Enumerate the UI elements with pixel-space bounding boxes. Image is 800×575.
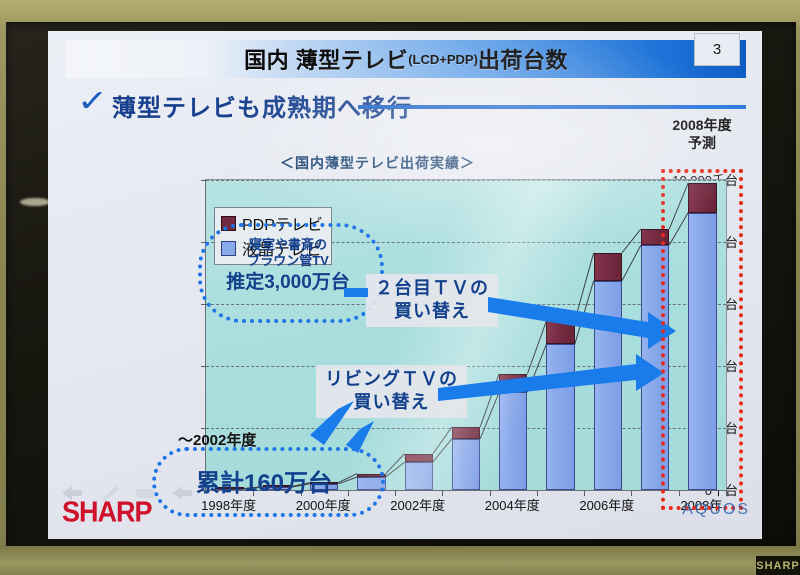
bar-segment-pdp [594, 253, 622, 281]
bar-segment-pdp [405, 454, 433, 462]
slide-title-bar: 国内 薄型テレビ (LCD+PDP) 出荷台数 [66, 40, 746, 78]
forecast-note-line1: 2008年度 [650, 117, 754, 135]
subtitle-rule [358, 105, 746, 109]
checkmark-icon: ✓ [77, 87, 108, 117]
bar-segment-pdp [499, 374, 527, 393]
sharp-logo: SHARP [62, 496, 152, 529]
callout-living-tv-line1: リビングＴＶの [325, 368, 458, 391]
page-title: 国内 薄型テレビ (LCD+PDP) 出荷台数 [66, 40, 746, 78]
photographed-slide-scene: 国内 薄型テレビ (LCD+PDP) 出荷台数 3 ✓ 薄型テレビも成熟期へ移行… [0, 0, 800, 575]
forecast-note-line2: 予測 [650, 135, 754, 153]
bar-segment-lcd [452, 439, 480, 490]
chart-caption: ＜国内薄型テレビ出荷実績＞ [280, 153, 475, 173]
corner-brand-badge: SHARP [756, 556, 800, 575]
page-number-badge: 3 [694, 33, 740, 66]
title-part-2: 出荷台数 [478, 43, 568, 75]
crt-line-3: 推定3,000万台 [206, 271, 370, 294]
callout-living-tv: リビングＴＶの 買い替え [316, 365, 467, 418]
bar-column [405, 454, 433, 490]
annotation-crt-estimate-text: 寝室や書斎の ブラウン管TV 推定3,000万台 [206, 237, 370, 294]
wall-bottom [0, 545, 800, 575]
bar-segment-lcd [594, 281, 622, 490]
title-part-1: 国内 薄型テレビ [244, 43, 408, 75]
bar-segment-pdp [452, 427, 480, 439]
bar-column [594, 253, 622, 490]
bar-segment-lcd [499, 392, 527, 490]
x-axis-label: 2004年度 [485, 495, 540, 514]
callout-second-tv-line2: 買い替え [375, 300, 489, 323]
x-axis-label: 2002年度 [390, 495, 445, 514]
callout-second-tv-line1: ２台目ＴＶの [375, 277, 489, 300]
bar-column [499, 374, 527, 490]
forecast-note: 2008年度 予測 [650, 117, 754, 153]
bezel-glint [20, 198, 50, 206]
callout-second-tv: ２台目ＴＶの 買い替え [366, 274, 498, 327]
presentation-slide: 国内 薄型テレビ (LCD+PDP) 出荷台数 3 ✓ 薄型テレビも成熟期へ移行… [48, 31, 762, 539]
callout-living-tv-line2: 買い替え [325, 391, 458, 414]
bar-segment-lcd [546, 344, 574, 490]
crt-line-1: 寝室や書斎の [206, 237, 370, 253]
title-paren: (LCD+PDP) [408, 52, 478, 67]
crt-line-2: ブラウン管TV [206, 253, 370, 269]
bar-column [546, 321, 574, 490]
bar-segment-lcd [405, 462, 433, 490]
x-axis-label: 2006年度 [579, 495, 634, 514]
annotation-forecast-box [661, 169, 743, 510]
bar-column [452, 427, 480, 490]
nav-forward-arrow-icon [172, 486, 192, 500]
bar-segment-pdp [546, 321, 574, 344]
aquos-logo: AQUOS [682, 501, 750, 519]
